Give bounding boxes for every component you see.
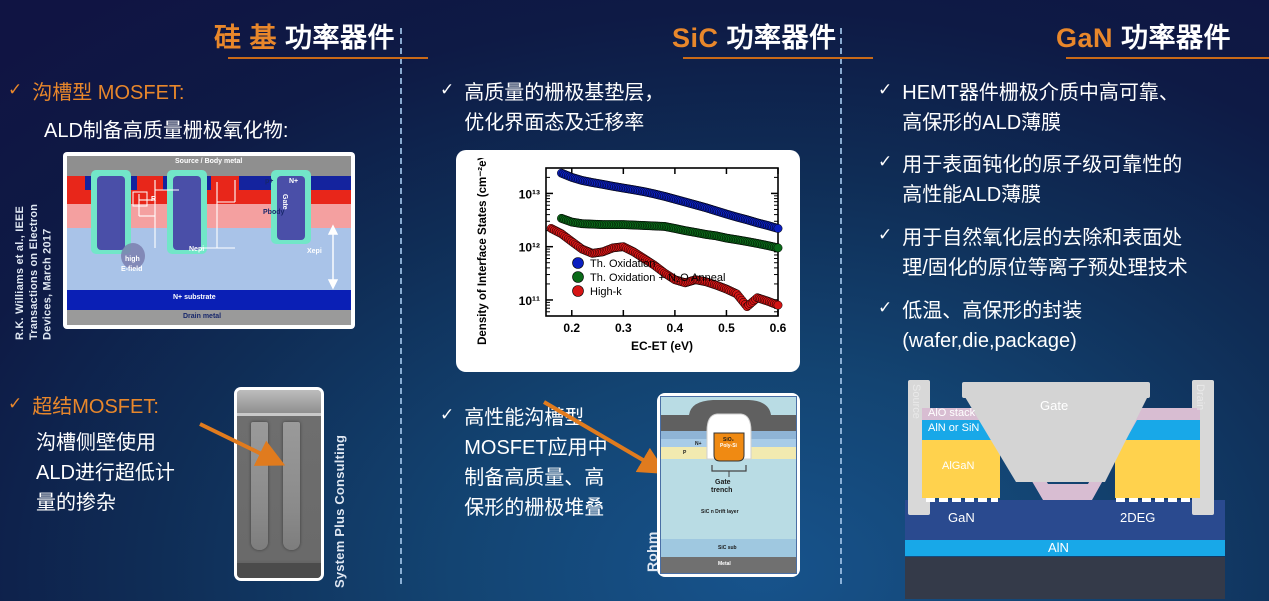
bullet-si-2-line-1: 沟槽侧壁使用 [36,428,175,458]
svg-text:0.5: 0.5 [718,321,735,335]
svg-text:High-k: High-k [590,286,622,298]
svg-text:10¹²: 10¹² [519,241,540,255]
check-icon: ✓ [8,78,22,108]
title-rest-sic: 功率器件 [727,23,837,53]
title-rule-silicon [228,57,428,59]
svg-text:0.3: 0.3 [615,321,632,335]
figure-silicon-trench-mosfet: Source / Body metal p+ N+ Pbody Gate Nep… [63,152,355,329]
bullet-si-2-line-3: 量的掺杂 [36,488,175,518]
credit-si-reference: R.K. Williams et al., IEEE Transactions … [14,168,55,340]
figure-gan-hemt: Source Drain Gate AlO stack AlN or SiN A… [900,372,1230,601]
label-sic-p: P [683,450,686,456]
label-n-plus: N+ [289,178,298,185]
label-pbody: Pbody [263,209,284,216]
svg-text:0.2: 0.2 [563,321,580,335]
page-title-gan: GaN 功率器件 [1056,16,1231,55]
title-highlight-sic: SiC [672,23,719,53]
check-icon: ✓ [878,150,892,210]
label-gan-alo-stack: AlO stack [928,407,975,419]
bullet-sic-1-line-1: 高质量的栅极基垫层， [464,78,664,108]
bullet-si-1-text: 沟槽型 MOSFET: [32,78,184,108]
title-rest-gan: 功率器件 [1121,23,1231,53]
bullet-gan-4: ✓ 低温、高保形的封装 (wafer,die,package) [878,296,1082,356]
figure-sic-trench-mosfet: Metal SiO₂ Poly-Si N+ P Gate trench SiC … [657,393,800,577]
svg-text:10¹³: 10¹³ [519,187,540,201]
figure-sem-superjunction [234,387,324,581]
label-sic-metal-bottom: Metal [718,561,731,567]
title-rest-silicon: 功率器件 [285,23,395,53]
bullet-gan-2-line-1: 用于表面钝化的原子级可靠性的 [902,150,1182,180]
label-sic-sub: SiC sub [718,545,737,551]
bullet-gan-4-line-1: 低温、高保形的封装 [902,296,1082,326]
label-gan-source: Source [910,384,922,419]
label-resistor-r: R [151,196,156,203]
label-gan-gan: GaN [948,510,975,525]
bullet-si-2-text: 超结MOSFET: [32,392,159,422]
title-highlight-silicon: 硅 基 [214,23,277,53]
bullet-gan-3: ✓ 用于自然氧化层的去除和表面处 理/固化的原位等离子预处理技术 [878,223,1188,283]
check-icon: ✓ [8,392,22,422]
bullet-si-2: ✓ 超结MOSFET: [8,392,159,422]
bullet-sic-1-text: 高质量的栅极基垫层， 优化界面态及迁移率 [464,78,664,138]
label-nepi: Nepi [189,246,204,253]
chart-xlabel: EC-ET (eV) [631,339,693,353]
check-icon: ✓ [878,296,892,356]
svg-text:10¹¹: 10¹¹ [519,294,540,308]
label-high-efield-1: high [125,256,140,263]
label-gan-drain: Drain [1194,384,1206,410]
label-high-efield-2: E-field [121,266,142,273]
bullet-gan-2: ✓ 用于表面钝化的原子级可靠性的 高性能ALD薄膜 [878,150,1182,210]
bullet-sic-1: ✓ 高质量的栅极基垫层， 优化界面态及迁移率 [440,78,664,138]
svg-text:Th. Oxidation: Th. Oxidation [590,258,655,270]
check-icon: ✓ [440,403,454,523]
label-sic-drift: SiC n Drift layer [701,509,739,515]
label-gan-aln-or-sin: AlN or SiN [928,422,979,434]
label-gan-2deg: 2DEG [1120,510,1155,525]
bullet-si-1: ✓ 沟槽型 MOSFET: [8,78,184,108]
check-icon: ✓ [440,78,454,138]
bullet-gan-4-line-2: (wafer,die,package) [902,326,1082,356]
check-icon: ✓ [878,78,892,138]
bullet-sic-2-line-4: 保形的栅极堆叠 [464,493,607,523]
page-title-silicon: 硅 基 功率器件 [214,16,395,55]
label-gate-trench-2: trench [711,487,732,494]
bullet-gan-2-line-2: 高性能ALD薄膜 [902,180,1182,210]
label-xepi: Xepi [307,248,322,255]
slide-canvas: 硅 基 功率器件 ✓ 沟槽型 MOSFET: ALD制备高质量栅极氧化物: R.… [0,0,1269,601]
label-source-body-metal: Source / Body metal [175,158,242,165]
title-rule-gan [1066,57,1269,59]
arrow-to-sic-figure [540,398,670,478]
page-title-sic: SiC 功率器件 [672,16,837,55]
svg-text:0.4: 0.4 [667,321,684,335]
bullet-si-1-sub: ALD制备高质量栅极氧化物: [44,116,288,146]
label-gate: Gate [281,194,288,210]
title-highlight-gan: GaN [1056,23,1113,53]
label-p-plus: p+ [265,178,273,185]
label-drain-metal: Drain metal [183,313,221,320]
bullet-gan-1-line-1: HEMT器件栅极介质中高可靠、 [902,78,1179,108]
label-gan-gate: Gate [1040,398,1068,413]
label-gan-algan: AlGaN [942,460,974,472]
chart-ylabel: Density of Interface States (cm⁻²eV⁻¹) [477,158,489,345]
label-gate-trench-1: Gate [715,479,731,486]
bullet-gan-1: ✓ HEMT器件栅极介质中高可靠、 高保形的ALD薄膜 [878,78,1179,138]
check-icon: ✓ [878,223,892,283]
label-sic-n-plus: N+ [695,441,702,447]
bullet-gan-3-line-2: 理/固化的原位等离子预处理技术 [902,253,1188,283]
bullet-sic-1-line-2: 优化界面态及迁移率 [464,108,664,138]
svg-text:Th. Oxidation + N₂O Anneal: Th. Oxidation + N₂O Anneal [590,272,725,284]
title-rule-gan-left [840,57,864,59]
label-gan-aln: AlN [1048,540,1069,555]
label-sic-polysi: Poly-Si [720,443,737,449]
credit-system-plus: System Plus Consulting [332,408,348,588]
label-n-substrate: N+ substrate [173,294,216,301]
figure-sic-dit-chart: 0.20.30.40.50.610¹¹10¹²10¹³Th. Oxidation… [456,150,800,372]
svg-text:0.6: 0.6 [770,321,787,335]
bullet-si-2-line-2: ALD进行超低计 [36,458,175,488]
bullet-gan-3-line-1: 用于自然氧化层的去除和表面处 [902,223,1188,253]
bullet-si-2-sub: 沟槽侧壁使用 ALD进行超低计 量的掺杂 [36,428,175,518]
arrow-to-sem [196,420,286,468]
label-sic-metal-top: Metal [719,417,732,423]
bullet-gan-1-line-2: 高保形的ALD薄膜 [902,108,1179,138]
